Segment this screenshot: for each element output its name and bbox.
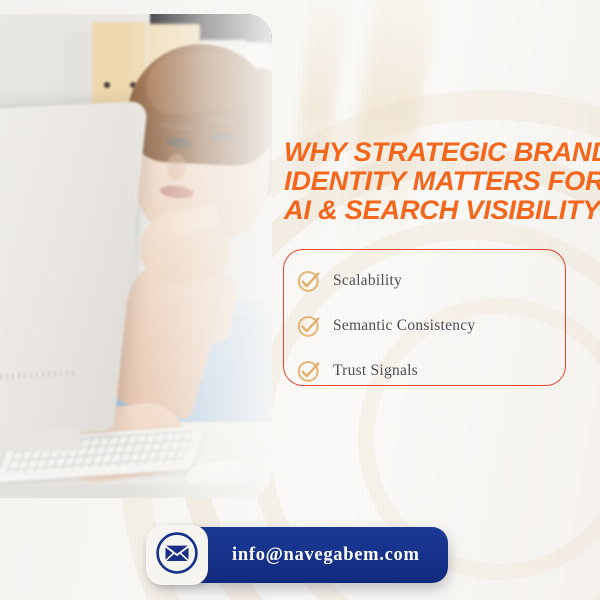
checklist: Scalability Semantic Consistency Trust S… [296, 258, 576, 393]
photo-bottom-fade [0, 438, 272, 498]
headline-line-2: IDENTITY MATTERS FOR [284, 167, 593, 196]
envelope-icon [154, 530, 200, 581]
checklist-item: Scalability [296, 258, 576, 303]
headline: WHY STRATEGIC BRAND IDENTITY MATTERS FOR… [284, 138, 593, 225]
hero-photo [0, 14, 272, 498]
poster-canvas: WHY STRATEGIC BRAND IDENTITY MATTERS FOR… [0, 0, 600, 600]
headline-line-3: AI & SEARCH VISIBILITY? [284, 196, 593, 225]
checklist-item: Semantic Consistency [296, 303, 576, 348]
checklist-item-label: Semantic Consistency [333, 317, 475, 335]
photo-right-fade [122, 14, 272, 498]
check-circle-icon [296, 313, 322, 339]
checklist-item: Trust Signals [296, 348, 576, 393]
checklist-item-label: Scalability [333, 272, 402, 290]
contact-pill[interactable]: info@navegabem.com [150, 527, 448, 583]
check-circle-icon [296, 358, 322, 384]
contact-icon-badge [146, 525, 208, 585]
check-circle-icon [296, 268, 322, 294]
headline-line-1: WHY STRATEGIC BRAND [284, 138, 593, 167]
contact-email[interactable]: info@navegabem.com [232, 545, 420, 566]
checklist-item-label: Trust Signals [333, 362, 418, 380]
